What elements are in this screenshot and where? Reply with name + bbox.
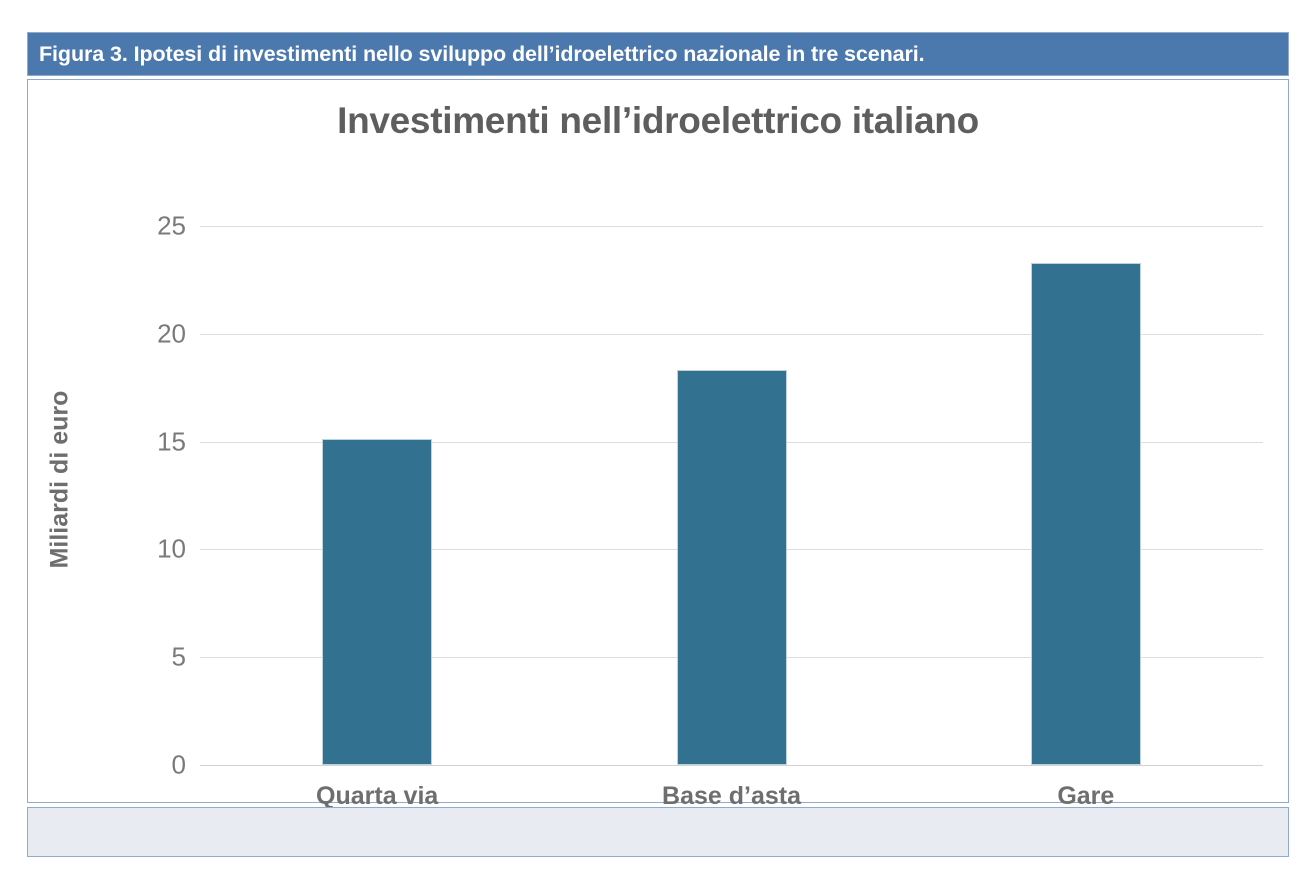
figure-footer-strip	[27, 807, 1289, 857]
chart-title: Investimenti nell’idroelettrico italiano	[28, 100, 1288, 142]
chart-panel: Investimenti nell’idroelettrico italiano…	[27, 79, 1289, 803]
figure-caption-text: Figura 3. Ipotesi di investimenti nello …	[28, 42, 925, 67]
y-tick-label-0: 0	[116, 750, 186, 781]
figure-container: Figura 3. Ipotesi di investimenti nello …	[27, 32, 1289, 857]
plot-area: 0510152025Quarta viaBase d’astaGare	[200, 226, 1263, 765]
y-tick-label-15: 15	[116, 426, 186, 457]
bar-1[interactable]	[677, 370, 787, 765]
y-tick-label-20: 20	[116, 318, 186, 349]
gridline-y-0	[200, 765, 1263, 766]
bar-2[interactable]	[1031, 263, 1141, 765]
y-tick-label-5: 5	[116, 642, 186, 673]
y-tick-label-25: 25	[116, 211, 186, 242]
y-axis-label: Miliardi di euro	[46, 390, 75, 570]
gridline-y-25	[200, 226, 1263, 227]
bar-0[interactable]	[322, 439, 432, 765]
figure-caption-bar: Figura 3. Ipotesi di investimenti nello …	[27, 32, 1289, 76]
y-tick-label-10: 10	[116, 534, 186, 565]
